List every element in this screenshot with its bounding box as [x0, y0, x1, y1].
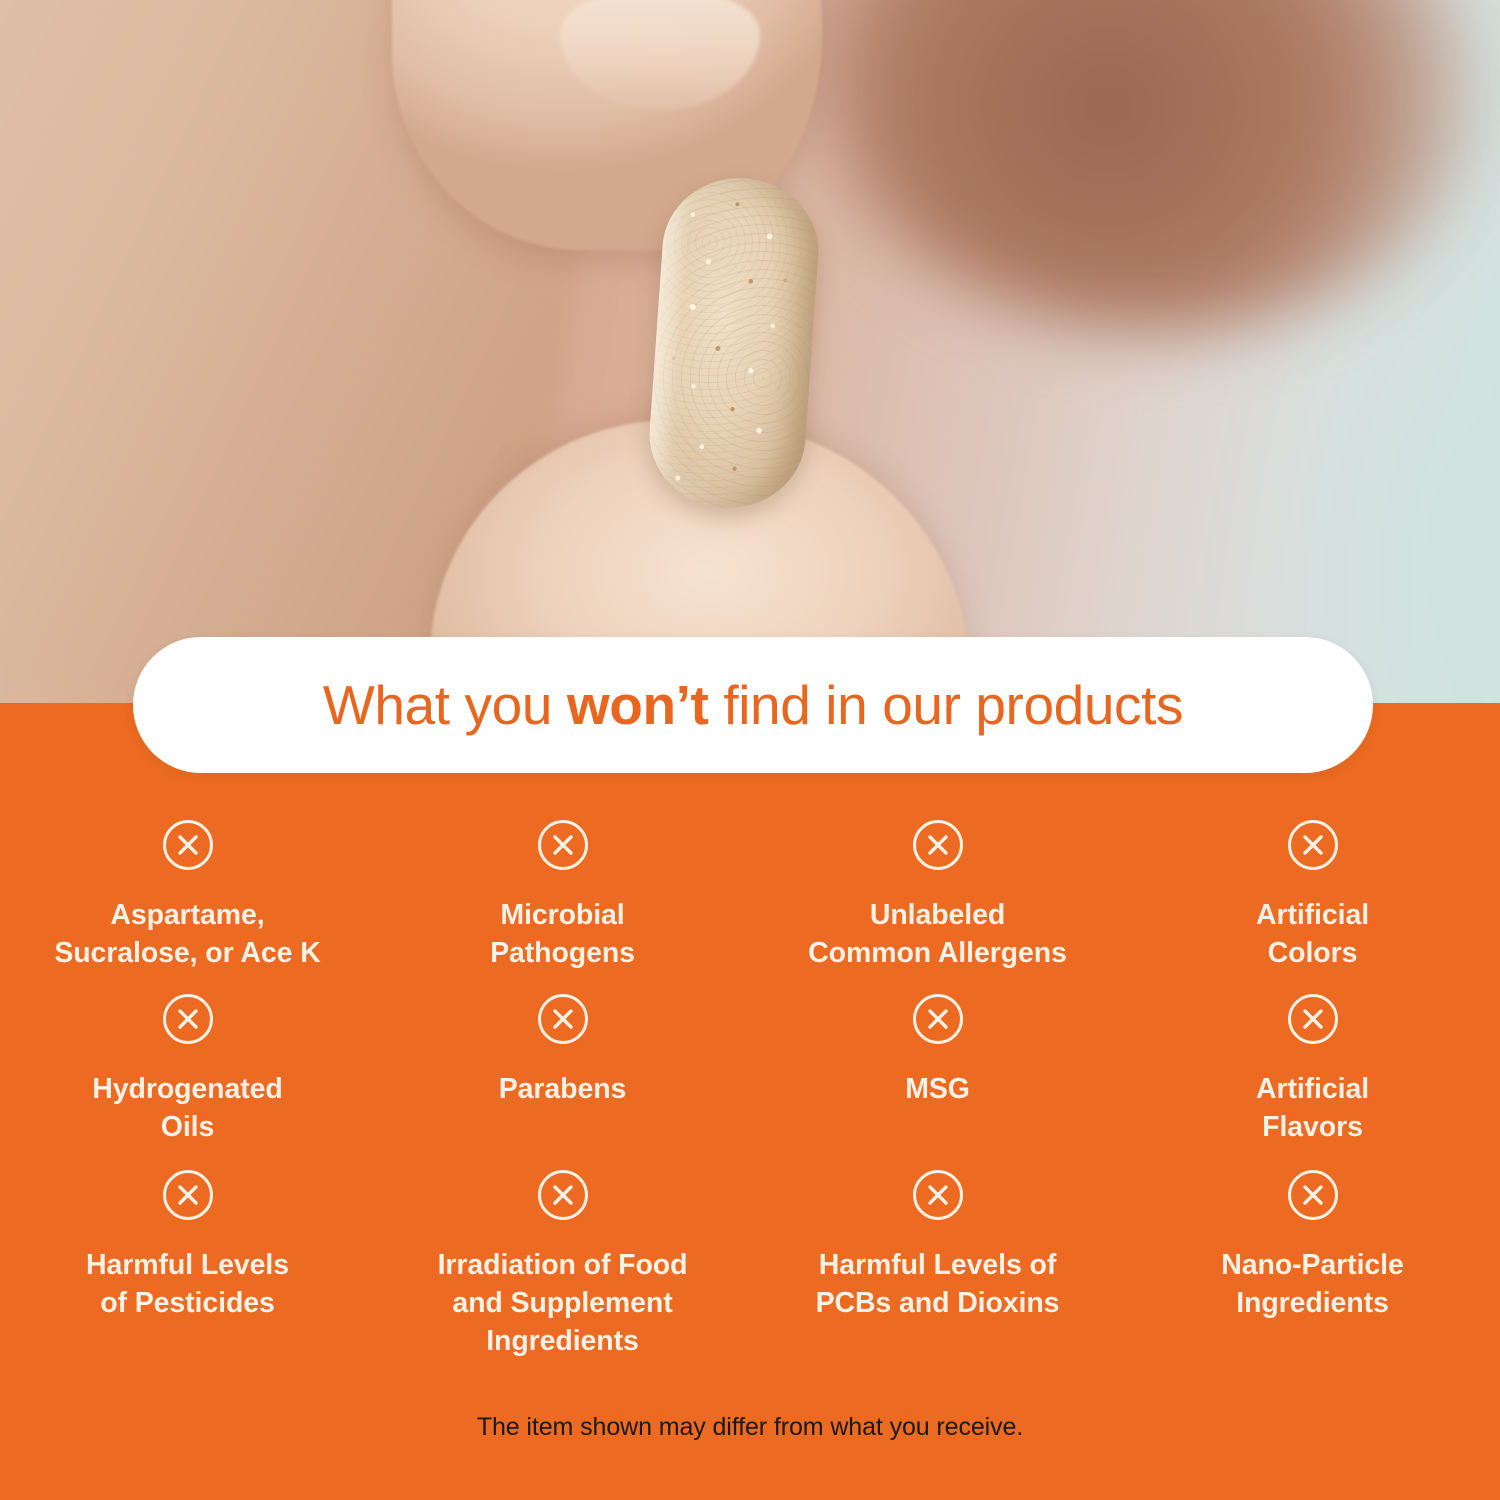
exclusion-item: Nano-Particle Ingredients: [1125, 1168, 1500, 1348]
circle-x-icon: [911, 1168, 965, 1222]
exclusion-item: Irradiation of Food and Supplement Ingre…: [375, 1168, 750, 1348]
circle-x-icon: [1286, 992, 1340, 1046]
supplement-tablet: [645, 173, 824, 513]
exclusion-row-3: Harmful Levels of Pesticides Irradiation…: [0, 1168, 1500, 1348]
exclusion-label: Hydrogenated Oils: [92, 1071, 282, 1147]
circle-x-icon: [911, 992, 965, 1046]
page-title: What you won’t find in our products: [323, 678, 1183, 733]
disclaimer-text: The item shown may differ from what you …: [0, 1413, 1500, 1442]
exclusion-label: Nano-Particle Ingredients: [1221, 1247, 1403, 1323]
product-claims-graphic: What you won’t find in our products Aspa…: [0, 0, 1500, 1500]
circle-x-icon: [1286, 1168, 1340, 1222]
exclusion-label: Parabens: [499, 1071, 627, 1109]
circle-x-icon: [911, 818, 965, 872]
exclusion-label: Harmful Levels of PCBs and Dioxins: [816, 1247, 1060, 1323]
hand-holding-tablet-photo: [0, 0, 1500, 712]
circle-x-icon: [161, 992, 215, 1046]
circle-x-icon: [536, 818, 590, 872]
exclusion-label: Unlabeled Common Allergens: [808, 897, 1067, 973]
exclusion-item: Aspartame, Sucralose, or Ace K: [0, 818, 375, 992]
exclusion-item: Hydrogenated Oils: [0, 992, 375, 1168]
exclusion-item: Parabens: [375, 992, 750, 1168]
headline-card: What you won’t find in our products: [133, 637, 1373, 773]
headline-text-before: What you: [323, 674, 567, 736]
exclusion-item: Unlabeled Common Allergens: [750, 818, 1125, 992]
exclusion-item: MSG: [750, 992, 1125, 1168]
exclusion-label: Artificial Flavors: [1256, 1071, 1369, 1147]
exclusion-label: Microbial Pathogens: [490, 897, 635, 973]
headline-text-after: find in our products: [708, 674, 1183, 736]
circle-x-icon: [536, 1168, 590, 1222]
exclusion-item: Artificial Flavors: [1125, 992, 1500, 1168]
exclusion-item: Harmful Levels of PCBs and Dioxins: [750, 1168, 1125, 1348]
exclusion-row-2: Hydrogenated Oils Parabens MSG Artificia…: [0, 992, 1500, 1168]
circle-x-icon: [1286, 818, 1340, 872]
exclusion-label: Artificial Colors: [1256, 897, 1369, 973]
exclusion-item: Microbial Pathogens: [375, 818, 750, 992]
circle-x-icon: [161, 818, 215, 872]
exclusion-row-1: Aspartame, Sucralose, or Ace K Microbial…: [0, 818, 1500, 992]
exclusion-item: Harmful Levels of Pesticides: [0, 1168, 375, 1348]
exclusion-label: Harmful Levels of Pesticides: [86, 1247, 289, 1323]
exclusion-label: MSG: [905, 1071, 970, 1109]
exclusion-label: Irradiation of Food and Supplement Ingre…: [438, 1247, 688, 1361]
circle-x-icon: [536, 992, 590, 1046]
circle-x-icon: [161, 1168, 215, 1222]
exclusion-label: Aspartame, Sucralose, or Ace K: [54, 897, 320, 973]
exclusion-item: Artificial Colors: [1125, 818, 1500, 992]
headline-emphasis: won’t: [567, 674, 709, 736]
